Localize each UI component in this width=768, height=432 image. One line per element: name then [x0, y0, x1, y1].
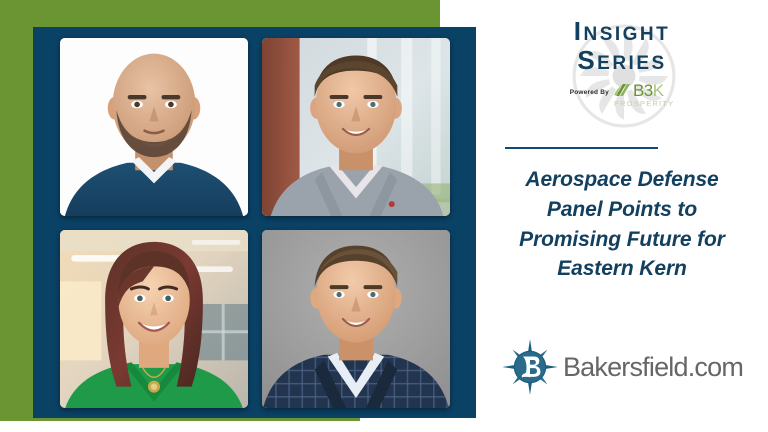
publisher-name: Bakersfield.com — [563, 352, 743, 383]
brand-line2-initial: S — [577, 45, 597, 75]
b3k-tagline: PROSPERITY — [614, 100, 674, 108]
headline-line-2: Panel Points to — [484, 195, 760, 225]
powered-by-row: Powered By B3K PROSPERITY — [476, 82, 768, 108]
headline-line-4: Eastern Kern — [484, 254, 760, 284]
brand-line1-rest: NSIGHT — [583, 24, 670, 45]
brand-title-line-1: INSIGHT — [476, 18, 768, 44]
b3k-wordmark: B3K — [633, 82, 664, 99]
green-accent-band-top — [0, 0, 440, 27]
panelist-photo-grid — [60, 38, 450, 408]
b3k-leaf-stripes-icon — [614, 83, 631, 98]
publisher-logo: Bakersfield.com — [476, 338, 768, 396]
panelist-photo-1 — [60, 38, 248, 216]
insight-series-brand-block: INSIGHT SERIES Powered By B3K — [476, 18, 768, 108]
panelist-photo-4 — [262, 230, 450, 408]
promotional-graphic: INSIGHT SERIES Powered By B3K — [0, 0, 768, 432]
b3k-k: K — [653, 81, 664, 100]
right-content-column: INSIGHT SERIES Powered By B3K — [476, 0, 768, 432]
panelist-photo-3 — [60, 230, 248, 408]
headline-line-1: Aerospace Defense — [484, 165, 760, 195]
green-accent-band-left — [0, 0, 33, 421]
headline-line-3: Promising Future for — [484, 225, 760, 255]
compass-star-b-monogram-icon — [501, 338, 559, 396]
b3k-logo: B3K PROSPERITY — [614, 82, 674, 108]
headline-divider — [505, 147, 658, 149]
brand-title-line-2: SERIES — [476, 47, 768, 73]
brand-line1-initial: I — [574, 16, 584, 46]
b3k-b3: B3 — [633, 81, 653, 100]
b3k-logo-row: B3K — [614, 82, 664, 99]
powered-by-label: Powered By — [570, 89, 609, 96]
panelist-photo-2 — [262, 38, 450, 216]
brand-title: INSIGHT SERIES — [476, 18, 768, 73]
brand-line2-rest: ERIES — [597, 53, 667, 74]
page-title: Aerospace Defense Panel Points to Promis… — [484, 165, 760, 284]
